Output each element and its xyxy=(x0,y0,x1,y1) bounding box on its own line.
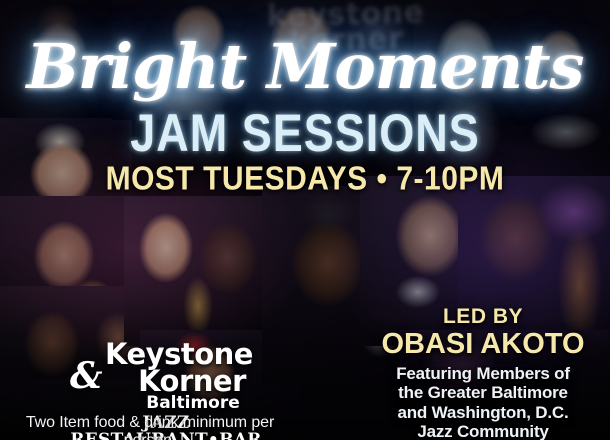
host-name: OBASI AKOTO xyxy=(368,329,598,361)
featuring-line-2: the Greater Baltimore xyxy=(368,383,598,402)
schedule-line: MOST TUESDAYS • 7-10PM xyxy=(0,163,610,196)
credits-block: LED BY OBASI AKOTO Featuring Members of … xyxy=(368,306,598,440)
featuring-text: Featuring Members of the Greater Baltimo… xyxy=(368,364,598,440)
headline-bright-moments: Bright Moments xyxy=(0,36,610,98)
headline-jam-sessions: JAM SESSIONS xyxy=(0,106,610,159)
keystone-flourish-icon: & xyxy=(70,358,103,394)
venue-city: Baltimore xyxy=(62,395,270,412)
minimum-notice: Two Item food & drink minimum per person… xyxy=(0,414,300,440)
featuring-line-4: Jazz Community xyxy=(368,422,598,440)
jam-session-flyer: keystone korner Bright Moments JAM SESSI… xyxy=(0,0,610,440)
featuring-line-3: and Washington, D.C. xyxy=(368,403,598,422)
featuring-line-1: Featuring Members of xyxy=(368,364,598,383)
led-by-label: LED BY xyxy=(368,306,598,328)
